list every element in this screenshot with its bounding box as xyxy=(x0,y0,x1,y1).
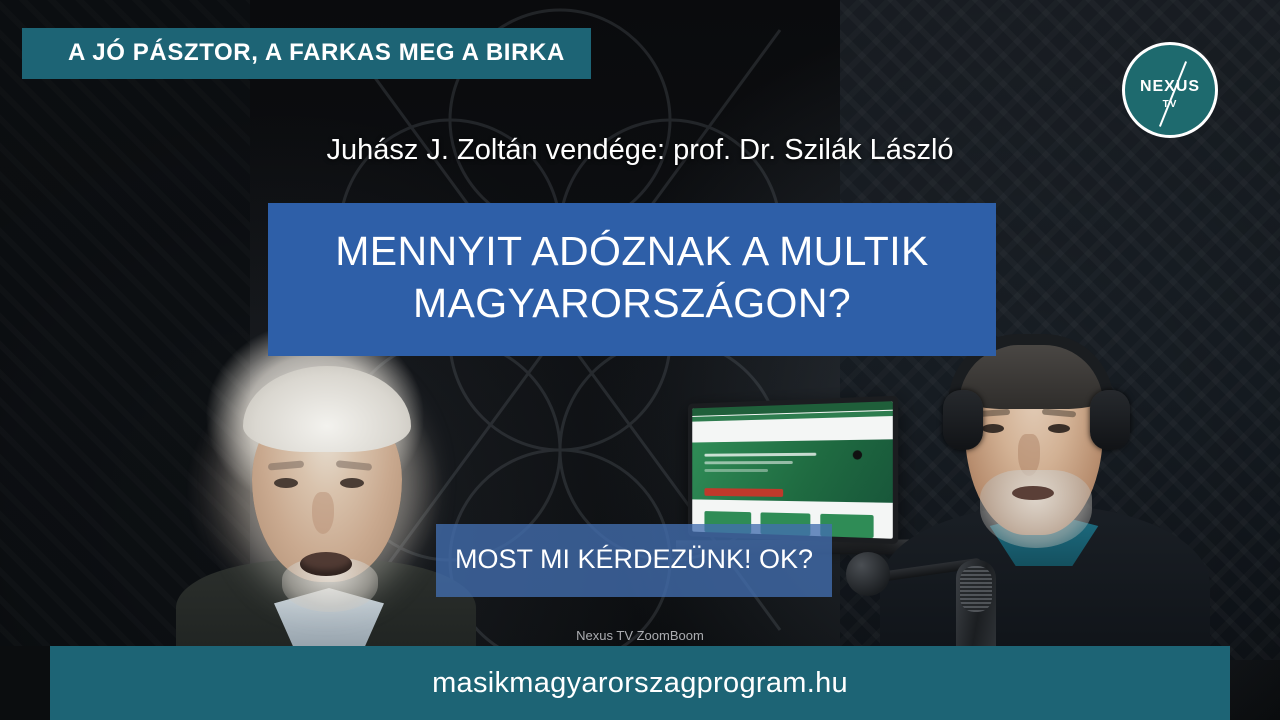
guest-nose xyxy=(312,492,334,534)
website-url-text: masikmagyarorszagprogram.hu xyxy=(432,667,848,700)
headphone-cup-right xyxy=(1090,390,1130,450)
microphone-joint xyxy=(846,552,890,596)
webpage-text-line xyxy=(704,469,768,472)
guest-eye-left xyxy=(274,478,298,488)
main-question-box: MENNYIT ADÓZNAK A MULTIK MAGYARORSZÁGON? xyxy=(268,203,996,356)
laptop-screen xyxy=(692,401,893,539)
logo-subtitle: TV xyxy=(1125,99,1215,110)
logo-name: NEXUS xyxy=(1125,78,1215,96)
episode-title-banner: A JÓ PÁSZTOR, A FARKAS MEG A BIRKA xyxy=(22,28,591,79)
host-mouth xyxy=(1012,486,1054,500)
guest-eye-right xyxy=(340,478,364,488)
host-eye-left xyxy=(982,424,1004,433)
channel-watermark: Nexus TV ZoomBoom xyxy=(0,628,1280,643)
website-url-bar: masikmagyarorszagprogram.hu xyxy=(50,646,1230,720)
webpage-avatar-dot xyxy=(853,450,862,459)
guest-mouth xyxy=(300,552,352,576)
guest-credit-line: Juhász J. Zoltán vendége: prof. Dr. Szil… xyxy=(0,134,1280,167)
nexus-tv-logo: NEXUS TV xyxy=(1122,42,1218,138)
host-beard xyxy=(980,470,1092,548)
laptop xyxy=(688,396,898,545)
webpage-subheading-line xyxy=(704,461,792,464)
microphone-grille xyxy=(960,566,992,612)
video-frame: A JÓ PÁSZTOR, A FARKAS MEG A BIRKA NEXUS… xyxy=(0,0,1280,720)
secondary-caption-box: MOST MI KÉRDEZÜNK! OK? xyxy=(436,524,832,597)
headphone-cup-left xyxy=(943,390,983,450)
host-eye-right xyxy=(1048,424,1070,433)
webpage-alert-bar xyxy=(704,488,783,497)
bottom-bar-left-gap xyxy=(0,646,50,720)
